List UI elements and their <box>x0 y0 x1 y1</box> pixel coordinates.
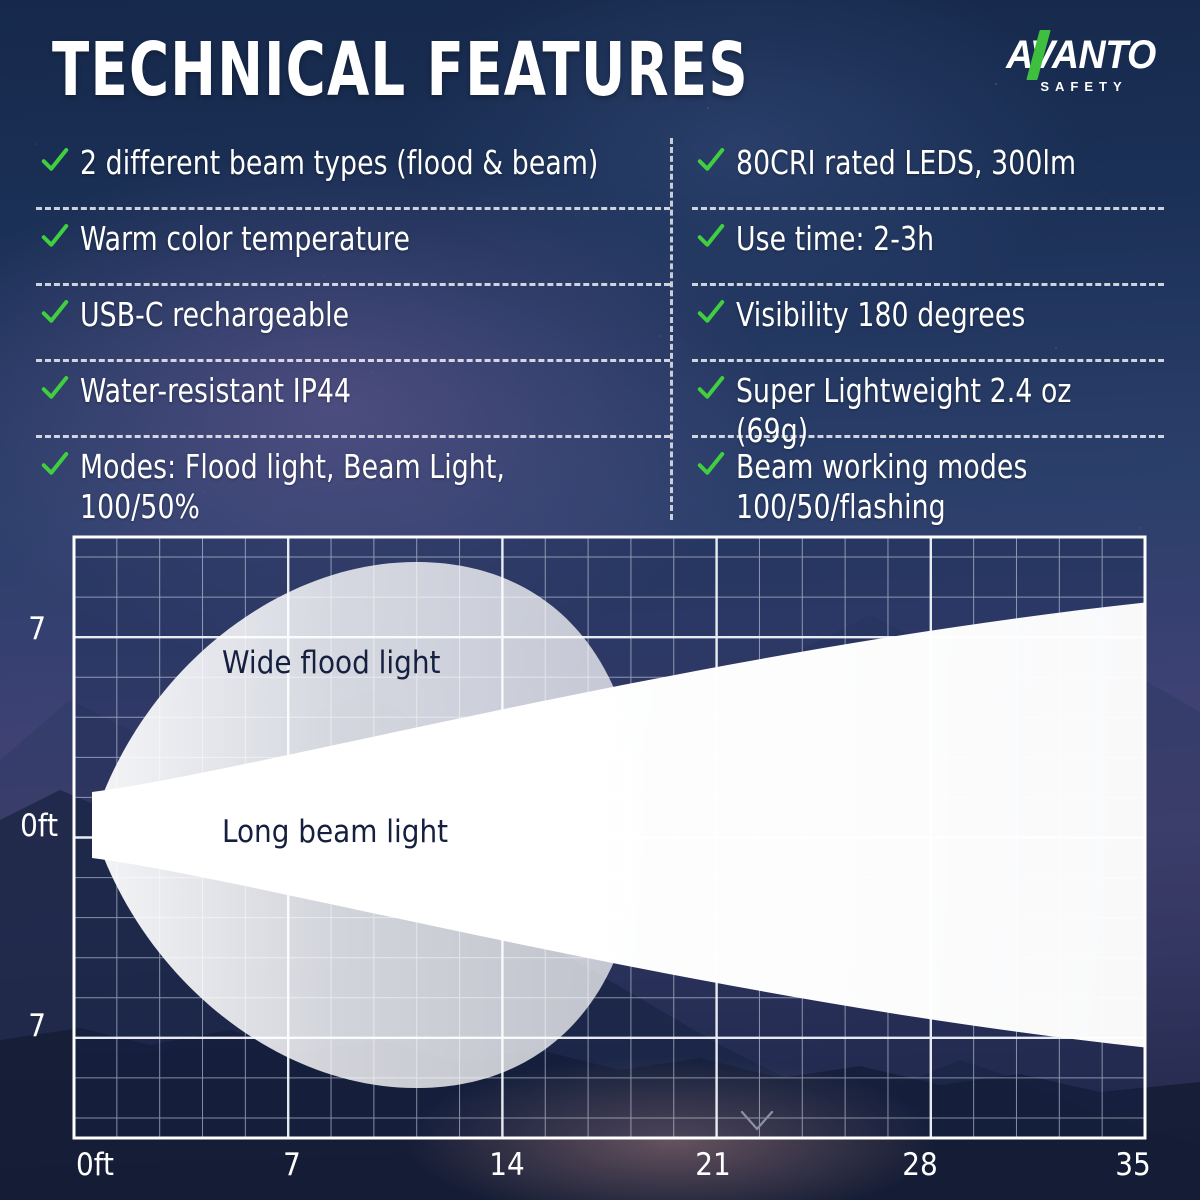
check-icon <box>40 145 70 175</box>
page-title: TECHNICAL FEATURES <box>52 30 749 110</box>
check-icon <box>696 221 726 251</box>
poster-root: TECHNICAL FEATURES AVANTO SAFETY 2 diffe… <box>0 0 1200 1200</box>
check-icon <box>40 373 70 403</box>
feature-item: Warm color temperature <box>36 210 670 286</box>
feature-item: Super Lightweight 2.4 oz (69g) <box>692 362 1164 438</box>
brand-subtitle-text: SAFETY <box>986 79 1176 94</box>
brand-wordmark-text: AVANTO <box>992 34 1171 76</box>
feature-label: Warm color temperature <box>80 210 410 259</box>
brand-logo: AVANTO SAFETY <box>986 34 1176 98</box>
feature-label: USB-C rechargeable <box>80 286 349 335</box>
feature-item: Visibility 180 degrees <box>692 286 1164 362</box>
check-icon <box>696 297 726 327</box>
feature-column-right: 80CRI rated LEDS, 300lm Use time: 2-3h V… <box>670 134 1164 524</box>
x-tick-label: 0ft <box>76 1147 114 1183</box>
feature-label: Beam working modes 100/50/flashing <box>736 438 1027 527</box>
feature-label: Visibility 180 degrees <box>736 286 1025 335</box>
check-icon <box>696 449 726 479</box>
x-tick-label: 28 <box>902 1147 937 1183</box>
check-icon <box>696 373 726 403</box>
check-icon <box>696 145 726 175</box>
x-tick-label: 14 <box>489 1147 524 1183</box>
feature-item: Modes: Flood light, Beam Light, 100/50% <box>36 438 670 527</box>
feature-label: Use time: 2-3h <box>736 210 934 259</box>
y-tick-label: 7 <box>28 611 46 647</box>
x-tick-label: 7 <box>283 1147 301 1183</box>
y-tick-label: 0ft <box>20 808 58 844</box>
beam-label: Long beam light <box>222 814 448 850</box>
feature-item: USB-C rechargeable <box>36 286 670 362</box>
header: TECHNICAL FEATURES AVANTO SAFETY <box>0 0 1200 130</box>
y-tick-label: 7 <box>28 1008 46 1044</box>
feature-column-left: 2 different beam types (flood & beam) Wa… <box>36 134 670 524</box>
feature-item: 2 different beam types (flood & beam) <box>36 134 670 210</box>
feature-label: Water-resistant IP44 <box>80 362 351 411</box>
feature-item: Water-resistant IP44 <box>36 362 670 438</box>
x-tick-label: 21 <box>695 1147 730 1183</box>
feature-label: 80CRI rated LEDS, 300lm <box>736 134 1076 183</box>
feature-label: 2 different beam types (flood & beam) <box>80 134 598 183</box>
feature-label: Modes: Flood light, Beam Light, 100/50% <box>80 438 607 527</box>
feature-item: 80CRI rated LEDS, 300lm <box>692 134 1164 210</box>
feature-item: Use time: 2-3h <box>692 210 1164 286</box>
feature-list: 2 different beam types (flood & beam) Wa… <box>36 134 1164 524</box>
feature-item: Beam working modes 100/50/flashing <box>692 438 1164 527</box>
check-icon <box>40 449 70 479</box>
beam-chart-svg: Wide flood light Long beam light 7 0ft 7… <box>0 520 1200 1200</box>
check-icon <box>40 297 70 327</box>
beam-pattern-chart: Wide flood light Long beam light 7 0ft 7… <box>0 520 1200 1200</box>
flood-label: Wide flood light <box>222 645 441 681</box>
check-icon <box>40 221 70 251</box>
x-tick-label: 35 <box>1115 1147 1150 1183</box>
